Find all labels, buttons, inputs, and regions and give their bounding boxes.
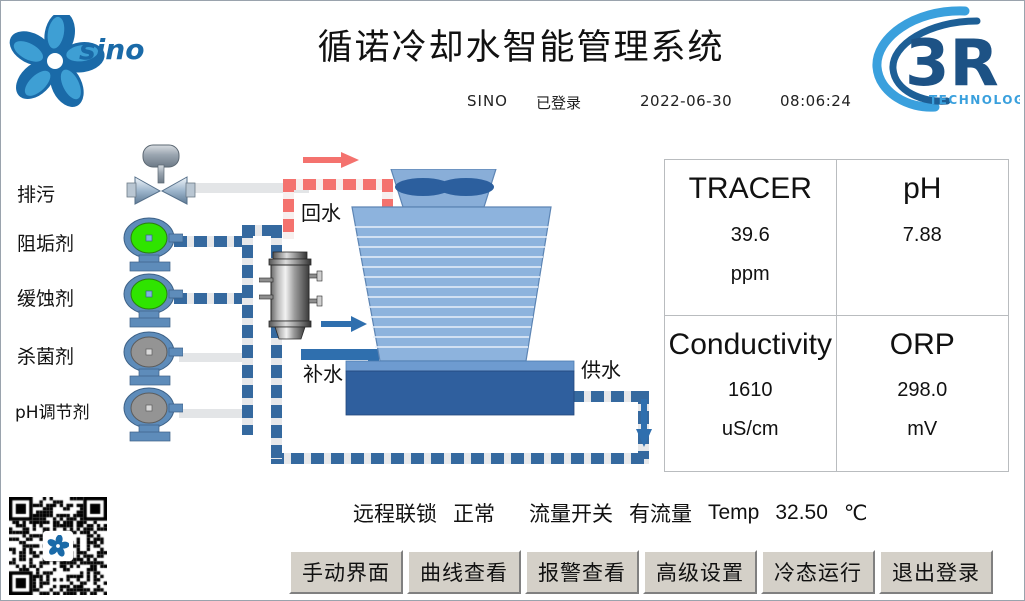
label-ph-adjuster: pH调节剂	[15, 398, 125, 423]
temp-unit: ℃	[844, 501, 868, 525]
cooling-tower[interactable]	[336, 169, 601, 417]
pump-ph-adjuster[interactable]	[121, 387, 183, 443]
supply-flow-arrow-icon	[633, 397, 655, 449]
pump-icon	[121, 217, 183, 273]
threeR-logo-icon: 3R TECHNOLOGY	[865, 5, 1020, 117]
cold-run-button[interactable]: 冷态运行	[761, 550, 875, 594]
hmi-screen: sino 循诺冷却水智能管理系统 SINO 已登录 2022-06-30 08:…	[0, 0, 1025, 601]
pump-icon	[121, 331, 183, 387]
pump-antiscalant[interactable]	[121, 217, 183, 273]
return-flow-arrow-icon	[301, 149, 361, 171]
measurement-value: 7.88	[903, 224, 942, 247]
alarm-view-button[interactable]: 报警查看	[525, 550, 639, 594]
header-time: 08:06:24	[780, 92, 851, 110]
label-makeup-water: 补水	[303, 358, 343, 387]
sino-logo: sino	[9, 15, 161, 107]
remote-interlock-label: 远程联锁	[353, 498, 437, 528]
pump-icon	[121, 387, 183, 443]
label-blowdown: 排污	[17, 180, 127, 207]
pipe-corrosion-active	[174, 293, 252, 304]
pump-icon	[121, 273, 183, 329]
flow-switch-label: 流量开关	[529, 498, 613, 528]
label-biocide: 杀菌剂	[17, 342, 127, 369]
measurement-name: ORP	[890, 326, 955, 364]
page-title: 循诺冷却水智能管理系统	[251, 19, 791, 70]
temp-label: Temp	[708, 501, 759, 525]
threeR-logo-subtext: TECHNOLOGY	[929, 93, 1020, 107]
label-antiscalant: 阻垢剂	[17, 229, 127, 256]
measurement-tracer: TRACER 39.6 ppm	[665, 160, 837, 316]
heat-exchanger[interactable]	[259, 251, 323, 341]
measurement-value: 1610	[728, 379, 773, 402]
measurement-unit: ppm	[731, 263, 770, 286]
sino-logo-icon	[47, 535, 69, 557]
pump-biocide[interactable]	[121, 331, 183, 387]
pipe-antiscalant-active	[174, 236, 252, 247]
cooling-tower-icon	[336, 169, 601, 417]
measurement-name: Conductivity	[669, 326, 832, 364]
logout-button[interactable]: 退出登录	[879, 550, 993, 594]
threeR-logo: 3R TECHNOLOGY	[865, 5, 1020, 117]
measurement-unit: mV	[907, 418, 937, 441]
measurement-name: TRACER	[689, 170, 812, 208]
qr-center-logo	[43, 531, 73, 561]
login-status: 已登录	[536, 92, 581, 113]
measurement-ph: pH 7.88	[837, 160, 1009, 316]
status-row: 远程联锁 正常 流量开关 有流量 Temp 32.50 ℃	[353, 497, 868, 529]
header: sino 循诺冷却水智能管理系统 SINO 已登录 2022-06-30 08:…	[1, 1, 1024, 127]
measurement-unit: uS/cm	[722, 418, 779, 441]
measurement-name: pH	[903, 170, 941, 208]
pipe-supply-trunk-left	[242, 225, 253, 435]
qr-code[interactable]	[9, 497, 107, 595]
header-user: SINO	[467, 92, 508, 110]
label-supply-water: 供水	[581, 354, 621, 383]
temp-value: 32.50	[775, 501, 828, 525]
pipe-supply-bottom-left-elbow	[271, 425, 282, 459]
header-date: 2022-06-30	[640, 92, 732, 110]
sino-logo-text: sino	[79, 33, 144, 66]
measurement-orp: ORP 298.0 mV	[837, 316, 1009, 472]
measurement-value: 298.0	[897, 379, 947, 402]
sino-logo-icon: sino	[9, 15, 161, 107]
manual-interface-button[interactable]: 手动界面	[289, 550, 403, 594]
measurement-panel: TRACER 39.6 ppm pH 7.88 Conductivity 161…	[664, 159, 1009, 472]
blowdown-valve[interactable]	[123, 143, 207, 205]
threeR-logo-text: 3R	[905, 27, 999, 101]
valve-icon	[123, 143, 207, 205]
button-bar: 手动界面 曲线查看 报警查看 高级设置 冷态运行 退出登录	[289, 550, 993, 594]
remote-interlock-value: 正常	[453, 498, 495, 528]
measurement-conductivity: Conductivity 1610 uS/cm	[665, 316, 837, 472]
advanced-setting-button[interactable]: 高级设置	[643, 550, 757, 594]
pump-corrosion-inhibitor[interactable]	[121, 273, 183, 329]
measurement-value: 39.6	[731, 224, 770, 247]
pipe-ph-idle	[179, 409, 247, 418]
curve-view-button[interactable]: 曲线查看	[407, 550, 521, 594]
pipe-supply-bottom	[271, 453, 649, 464]
label-return-water: 回水	[301, 197, 341, 226]
flow-switch-value: 有流量	[629, 498, 692, 528]
pipe-biocide-idle	[179, 353, 247, 362]
label-corrosion-inhibitor: 缓蚀剂	[17, 284, 127, 311]
heat-exchanger-icon	[259, 251, 323, 341]
